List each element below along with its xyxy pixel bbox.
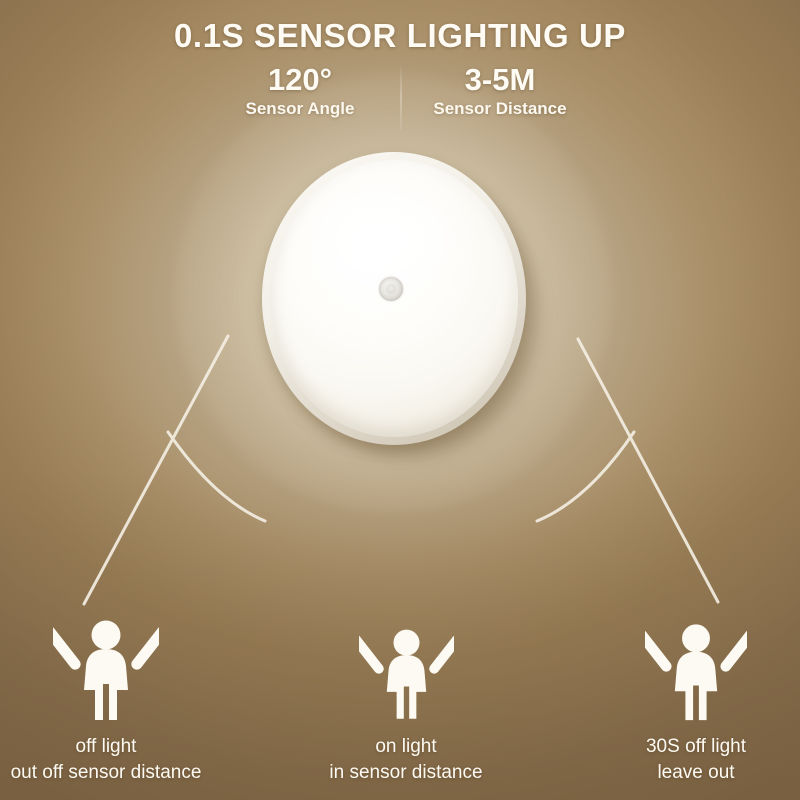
caption-line-1: 30S off light	[590, 734, 800, 760]
person-body	[675, 652, 717, 720]
person-arm-right	[718, 628, 747, 674]
caption-line-2: out off sensor distance	[0, 760, 212, 786]
scenario-caption: on light in sensor distance	[300, 734, 512, 786]
caption-line-2: in sensor distance	[300, 760, 512, 786]
person-figure-wrapper	[590, 612, 800, 724]
scenario-leaving: 30S off light leave out	[590, 612, 800, 786]
lamp-specular-highlight	[306, 184, 456, 296]
person-arm-right	[427, 633, 454, 676]
product-infographic: 0.1S SENSOR LIGHTING UP 120° Sensor Angl…	[0, 0, 800, 800]
sensor-light-product	[262, 152, 526, 445]
caption-line-1: on light	[300, 734, 512, 760]
person-head	[393, 630, 419, 656]
person-head	[682, 624, 710, 652]
person-figure-wrapper	[0, 612, 212, 724]
scenario-caption: 30S off light leave out	[590, 734, 800, 786]
scenario-out-of-range: off light out off sensor distance	[0, 612, 212, 786]
person-body	[386, 655, 425, 719]
person-arms-raised-icon	[359, 624, 454, 724]
person-arm-left	[53, 624, 83, 672]
caption-line-1: off light	[0, 734, 212, 760]
person-body	[84, 649, 128, 720]
person-arms-raised-icon	[645, 620, 747, 724]
scenario-in-range: on light in sensor distance	[300, 612, 512, 786]
pir-sensor-icon	[379, 277, 403, 301]
person-arm-left	[645, 628, 674, 674]
caption-line-2: leave out	[590, 760, 800, 786]
scenario-row: off light out off sensor distance on lig…	[0, 612, 800, 800]
person-figure-wrapper	[300, 612, 512, 724]
person-arm-right	[129, 624, 159, 672]
scenario-caption: off light out off sensor distance	[0, 734, 212, 786]
person-arms-raised-icon	[53, 616, 159, 724]
person-arm-left	[359, 633, 386, 676]
person-head	[92, 621, 121, 650]
